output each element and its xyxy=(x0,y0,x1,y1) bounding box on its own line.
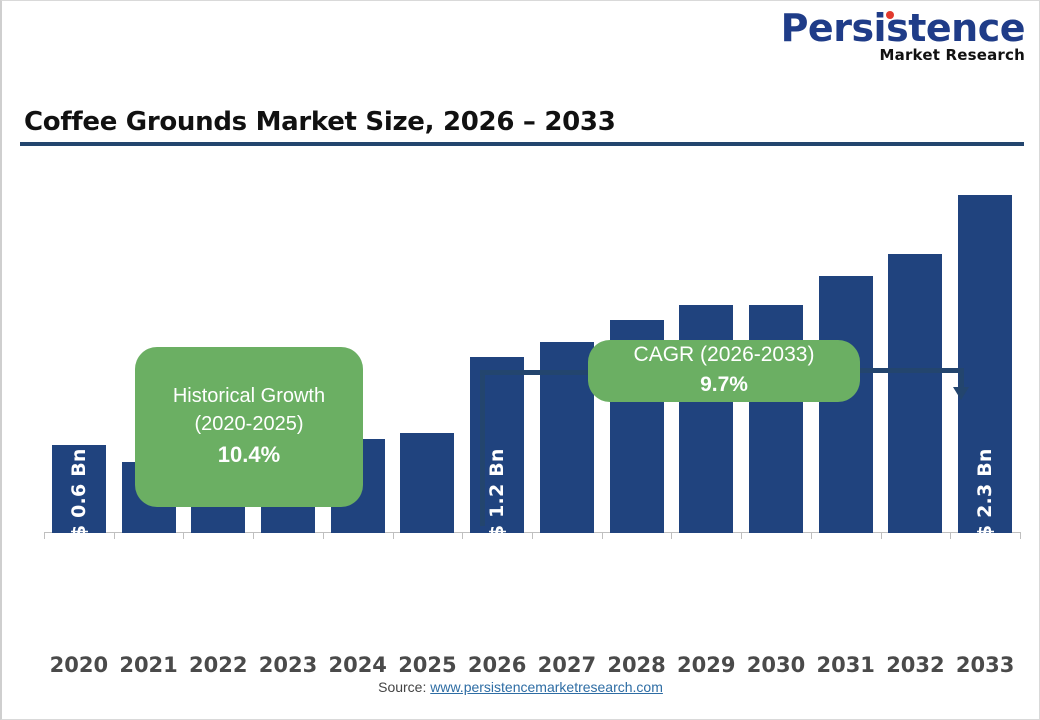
x-axis-label-2023: 2023 xyxy=(253,653,323,677)
historical-growth-line1: Historical Growth xyxy=(173,383,325,411)
logo-dot-icon xyxy=(886,11,894,19)
bar-2026: US$ 1.2 Bn xyxy=(470,357,524,533)
page-title: Coffee Grounds Market Size, 2026 – 2033 xyxy=(24,107,615,137)
logo-subtitle: Market Research xyxy=(781,48,1025,63)
source-line: Source: www.persistencemarketresearch.co… xyxy=(2,679,1039,695)
bar-value-label-2020: US$ 0.6 Bn xyxy=(68,448,90,567)
x-tick-2030 xyxy=(811,532,812,539)
bar-value-label-2026: US$ 1.2 Bn xyxy=(486,448,508,567)
cagr-connector-right-horizontal xyxy=(854,368,964,373)
bar-2033: US$ 2.3 Bn xyxy=(958,195,1012,533)
x-tick-2024 xyxy=(393,532,394,539)
x-axis-label-2021: 2021 xyxy=(114,653,184,677)
x-axis-label-2030: 2030 xyxy=(741,653,811,677)
x-tick-2032 xyxy=(950,532,951,539)
cagr-callout: CAGR (2026-2033) 9.7% xyxy=(588,340,860,402)
x-tick-2023 xyxy=(323,532,324,539)
x-tick-start xyxy=(44,532,45,539)
x-tick-2028 xyxy=(671,532,672,539)
cagr-connector-left-vertical xyxy=(480,370,485,526)
x-axis-label-2031: 2031 xyxy=(811,653,881,677)
cagr-line1: CAGR (2026-2033) xyxy=(634,341,815,370)
company-logo: Persistence Market Research xyxy=(781,9,1025,63)
source-prefix: Source: xyxy=(378,679,430,695)
x-axis-label-2027: 2027 xyxy=(532,653,602,677)
x-axis-label-2025: 2025 xyxy=(393,653,463,677)
cagr-connector-left-horizontal xyxy=(480,370,598,375)
arrow-down-icon xyxy=(953,387,969,400)
x-axis-label-2028: 2028 xyxy=(602,653,672,677)
historical-growth-callout: Historical Growth (2020-2025) 10.4% xyxy=(135,347,363,507)
x-tick-2025 xyxy=(462,532,463,539)
x-tick-2029 xyxy=(741,532,742,539)
bar-2031 xyxy=(819,276,873,533)
bar-chart: US$ 0.6 BnUS$ 1.2 BnUS$ 2.3 Bn 202020212… xyxy=(2,151,1040,631)
x-tick-2027 xyxy=(602,532,603,539)
x-axis-label-2026: 2026 xyxy=(462,653,532,677)
x-axis-label-2024: 2024 xyxy=(323,653,393,677)
cagr-value: 9.7% xyxy=(700,370,748,400)
x-tick-2031 xyxy=(881,532,882,539)
historical-growth-line2: (2020-2025) xyxy=(195,411,304,439)
x-tick-2021 xyxy=(183,532,184,539)
x-axis-label-2032: 2032 xyxy=(881,653,951,677)
bar-2025 xyxy=(400,433,454,533)
logo-brand-label: Persistence xyxy=(781,6,1025,50)
historical-growth-value: 10.4% xyxy=(218,439,280,471)
logo-brand-text: Persistence xyxy=(781,9,1025,47)
x-axis-label-2029: 2029 xyxy=(671,653,741,677)
bar-2020: US$ 0.6 Bn xyxy=(52,445,106,533)
chart-page: Persistence Market Research Coffee Groun… xyxy=(0,0,1040,720)
x-tick-2026 xyxy=(532,532,533,539)
x-axis-label-2020: 2020 xyxy=(44,653,114,677)
bar-value-label-2033: US$ 2.3 Bn xyxy=(974,448,996,567)
x-tick-2033 xyxy=(1020,532,1021,539)
bar-2032 xyxy=(888,254,942,533)
source-link[interactable]: www.persistencemarketresearch.com xyxy=(430,679,663,695)
x-tick-2020 xyxy=(114,532,115,539)
x-tick-2022 xyxy=(253,532,254,539)
title-divider xyxy=(20,142,1024,146)
x-axis-label-2022: 2022 xyxy=(183,653,253,677)
x-axis-label-2033: 2033 xyxy=(950,653,1020,677)
